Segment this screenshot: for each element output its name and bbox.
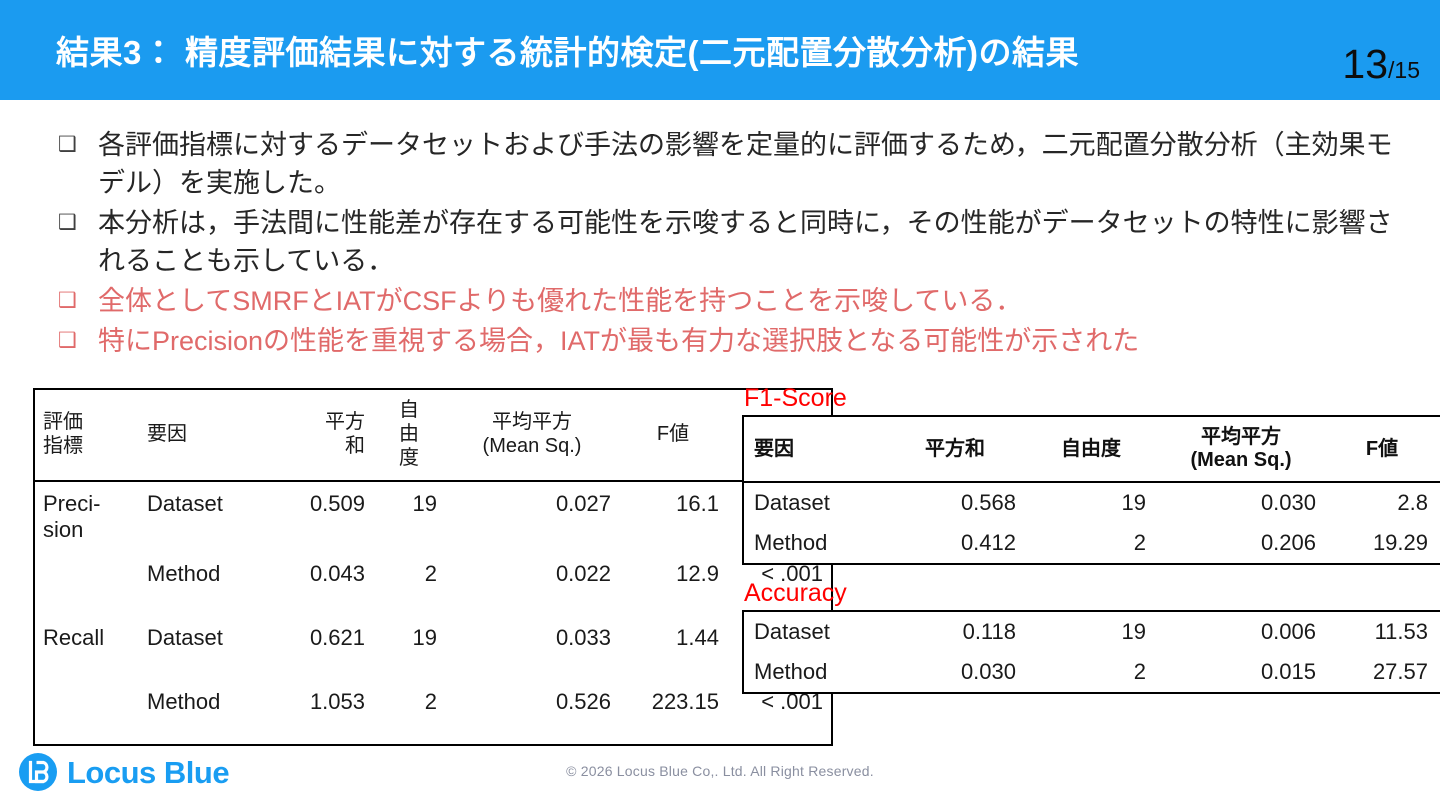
cell-sum-of-squares: 0.030: [884, 652, 1026, 693]
cell-mean-square: 0.030: [1156, 482, 1326, 523]
cell-degrees-of-freedom: 19: [1026, 611, 1156, 652]
cell-factor: Dataset: [139, 481, 263, 552]
page-number: 13/15: [1342, 44, 1420, 85]
cell-degrees-of-freedom: 2: [373, 552, 445, 616]
table-row: Method 1.053 2 0.526 223.15 < .001: [34, 680, 832, 745]
cell-sum-of-squares: 0.412: [884, 523, 1026, 564]
list-item-label: 本分析は，手法間に性能差が存在する可能性を示唆すると同時に，その性能がデータセッ…: [98, 204, 1414, 280]
column-header-mean-square: 平均平方 (Mean Sq.): [1156, 416, 1326, 482]
cell-sum-of-squares: 0.509: [263, 481, 373, 552]
column-header-degrees-of-freedom: 自 由 度: [373, 389, 445, 481]
table-header-row: 評価 指標 要因 平方 和 自 由 度 平均平方 (Mean Sq.) F値: [34, 389, 832, 481]
page-title: 結果3： 精度評価結果に対する統計的検定(二元配置分散分析)の結果: [56, 26, 1079, 74]
column-header-f-value: F値: [1326, 416, 1438, 482]
cell-sum-of-squares: 1.053: [263, 680, 373, 745]
cell-metric: Preci- sion: [34, 481, 139, 552]
cell-degrees-of-freedom: 19: [373, 616, 445, 680]
list-item-label: 各評価指標に対するデータセットおよび手法の影響を定量的に評価するため，二元配置分…: [98, 126, 1414, 202]
table-header-row: 要因 平方和 自由度 平均平方 (Mean Sq.) F値 p値: [743, 416, 1440, 482]
cell-sum-of-squares: 0.118: [884, 611, 1026, 652]
cell-degrees-of-freedom: 2: [373, 680, 445, 745]
section-label-accuracy: Accuracy: [744, 579, 1414, 607]
page-number-total: /15: [1388, 57, 1420, 83]
cell-metric: [34, 680, 139, 745]
right-tables-group: F1-Score 要因 平方和 自由度 平均平方 (Mean Sq.) F値 p…: [742, 384, 1414, 694]
cell-factor: Method: [743, 652, 884, 693]
copyright-text: © 2026 Locus Blue Co,. Ltd. All Right Re…: [0, 763, 1440, 779]
table-header: 評価 指標 要因 平方 和 自 由 度 平均平方 (Mean Sq.) F値: [34, 389, 832, 481]
cell-metric: [34, 552, 139, 616]
list-item: ❑ 全体としてSMRFとIATがCSFよりも優れた性能を持つことを示唆している．: [58, 282, 1414, 320]
column-header-factor: 要因: [743, 416, 884, 482]
list-item-label: 特にPrecisionの性能を重視する場合，IATが最も有力な選択肢となる可能性…: [98, 322, 1414, 360]
cell-factor: Method: [743, 523, 884, 564]
cell-degrees-of-freedom: 2: [1026, 652, 1156, 693]
cell-factor: Method: [139, 552, 263, 616]
cell-f-value: 27.57: [1326, 652, 1438, 693]
table-row: Preci- sion Dataset 0.509 19 0.027 16.1 …: [34, 481, 832, 552]
bullet-list: ❑ 各評価指標に対するデータセットおよび手法の影響を定量的に評価するため，二元配…: [58, 126, 1414, 362]
cell-f-value: 19.29: [1326, 523, 1438, 564]
table: 評価 指標 要因 平方 和 自 由 度 平均平方 (Mean Sq.) F値: [33, 388, 833, 746]
table-row: Method 0.412 2 0.206 19.29 < .001: [743, 523, 1440, 564]
table-row: Method 0.030 2 0.015 27.57 < .001: [743, 652, 1440, 693]
anova-table-accuracy: Dataset 0.118 19 0.006 11.53 < .001 Meth…: [742, 610, 1440, 694]
cell-degrees-of-freedom: 19: [1026, 482, 1156, 523]
page-number-current: 13: [1342, 41, 1388, 87]
column-header-mean-square: 平均平方 (Mean Sq.): [445, 389, 619, 481]
anova-table-precision-recall: 評価 指標 要因 平方 和 自 由 度 平均平方 (Mean Sq.) F値: [33, 388, 723, 746]
table-body: Dataset 0.118 19 0.006 11.53 < .001 Meth…: [743, 611, 1440, 693]
cell-factor: Dataset: [743, 611, 884, 652]
column-header-f-value: F値: [619, 389, 727, 481]
cell-mean-square: 0.027: [445, 481, 619, 552]
anova-table-f1-score: 要因 平方和 自由度 平均平方 (Mean Sq.) F値 p値 Dataset…: [742, 415, 1440, 565]
column-header-factor: 要因: [139, 389, 263, 481]
cell-mean-square: 0.526: [445, 680, 619, 745]
list-item: ❑ 特にPrecisionの性能を重視する場合，IATが最も有力な選択肢となる可…: [58, 322, 1414, 360]
table-row: Method 0.043 2 0.022 12.9 < .001: [34, 552, 832, 616]
cell-mean-square: 0.015: [1156, 652, 1326, 693]
table-body: Preci- sion Dataset 0.509 19 0.027 16.1 …: [34, 481, 832, 745]
cell-mean-square: 0.033: [445, 616, 619, 680]
cell-mean-square: 0.006: [1156, 611, 1326, 652]
square-bullet-icon: ❑: [58, 322, 98, 360]
cell-factor: Dataset: [139, 616, 263, 680]
cell-degrees-of-freedom: 19: [373, 481, 445, 552]
cell-f-value: 12.9: [619, 552, 727, 616]
square-bullet-icon: ❑: [58, 126, 98, 164]
cell-f-value: 1.44: [619, 616, 727, 680]
column-header-degrees-of-freedom: 自由度: [1026, 416, 1156, 482]
table-row: Recall Dataset 0.621 19 0.033 1.44 0.167: [34, 616, 832, 680]
cell-degrees-of-freedom: 2: [1026, 523, 1156, 564]
table-header: 要因 平方和 自由度 平均平方 (Mean Sq.) F値 p値: [743, 416, 1440, 482]
square-bullet-icon: ❑: [58, 282, 98, 320]
column-header-sum-of-squares: 平方 和: [263, 389, 373, 481]
table-row: Dataset 0.118 19 0.006 11.53 < .001: [743, 611, 1440, 652]
cell-metric: Recall: [34, 616, 139, 680]
cell-f-value: 223.15: [619, 680, 727, 745]
section-label-f1-score: F1-Score: [744, 384, 1414, 412]
cell-factor: Dataset: [743, 482, 884, 523]
table-body: Dataset 0.568 19 0.030 2.8 .003 Method 0…: [743, 482, 1440, 564]
column-header-sum-of-squares: 平方和: [884, 416, 1026, 482]
cell-f-value: 11.53: [1326, 611, 1438, 652]
cell-f-value: 16.1: [619, 481, 727, 552]
cell-factor: Method: [139, 680, 263, 745]
cell-f-value: 2.8: [1326, 482, 1438, 523]
cell-mean-square: 0.206: [1156, 523, 1326, 564]
cell-mean-square: 0.022: [445, 552, 619, 616]
list-item-label: 全体としてSMRFとIATがCSFよりも優れた性能を持つことを示唆している．: [98, 282, 1414, 320]
list-item: ❑ 本分析は，手法間に性能差が存在する可能性を示唆すると同時に，その性能がデータ…: [58, 204, 1414, 280]
list-item: ❑ 各評価指標に対するデータセットおよび手法の影響を定量的に評価するため，二元配…: [58, 126, 1414, 202]
slide-header-bar: 結果3： 精度評価結果に対する統計的検定(二元配置分散分析)の結果 13/15: [0, 0, 1440, 100]
table-row: Dataset 0.568 19 0.030 2.8 .003: [743, 482, 1440, 523]
cell-sum-of-squares: 0.621: [263, 616, 373, 680]
cell-sum-of-squares: 0.568: [884, 482, 1026, 523]
square-bullet-icon: ❑: [58, 204, 98, 242]
column-header-metric: 評価 指標: [34, 389, 139, 481]
cell-sum-of-squares: 0.043: [263, 552, 373, 616]
